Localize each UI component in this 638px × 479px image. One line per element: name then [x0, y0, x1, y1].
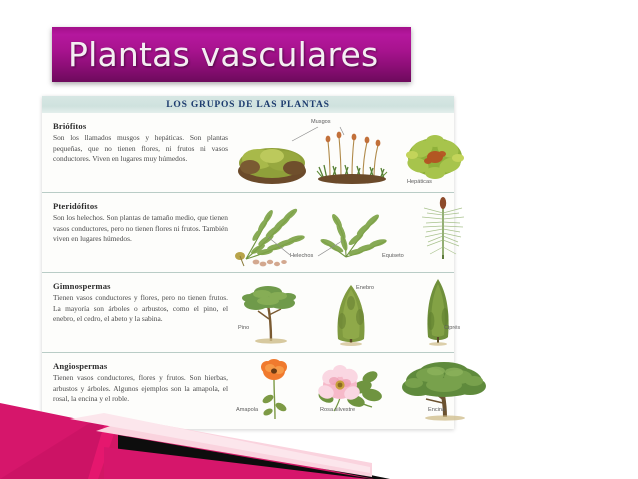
- table-row: Gimnospermas Tienen vasos conductores y …: [42, 273, 454, 353]
- illustration-label: Equiseto: [382, 253, 404, 259]
- illustration-label: Hepáticas: [407, 179, 432, 185]
- pine-tree-icon: [238, 279, 304, 345]
- illustration-label: Enebro: [356, 285, 374, 291]
- table-header-band: LOS GRUPOS DE LAS PLANTAS: [42, 96, 454, 113]
- slide-canvas: Plantas vasculares LOS GRUPOS DE LAS PLA…: [0, 0, 638, 479]
- cypress-tree-icon: [418, 275, 458, 347]
- plant-groups-table: LOS GRUPOS DE LAS PLANTAS Briófitos Son …: [42, 96, 454, 429]
- ribbon-shapes: [0, 389, 638, 479]
- group-description: Son los helechos. Son plantas de tamaño …: [53, 213, 228, 245]
- decorative-ribbons: [0, 389, 638, 479]
- group-name: Pteridófitos: [53, 201, 228, 211]
- moss-cushion-icon: [236, 137, 308, 185]
- row-text-block: Pteridófitos Son los helechos. Son plant…: [53, 201, 228, 245]
- illustration-label: Musgos: [311, 119, 331, 125]
- table-row: Briófitos Son los llamados musgos y hepá…: [42, 113, 454, 193]
- illustration-label: Ciprés: [444, 325, 460, 331]
- group-description: Son los llamados musgos y hepáticas. Son…: [53, 133, 228, 165]
- moss-sporophyte-icon: [314, 127, 394, 185]
- row-text-block: Briófitos Son los llamados musgos y hepá…: [53, 121, 228, 165]
- table-row: Pteridófitos Son los helechos. Son plant…: [42, 193, 454, 273]
- liverwort-icon: [404, 133, 466, 181]
- group-name: Gimnospermas: [53, 281, 228, 291]
- group-description: Tienen vasos conductores y flores, pero …: [53, 293, 228, 325]
- slide-title-banner: Plantas vasculares: [52, 27, 411, 82]
- group-name: Angiospermas: [53, 361, 228, 371]
- row-text-block: Gimnospermas Tienen vasos conductores y …: [53, 281, 228, 325]
- row-illustrations: Musgos Hepáticas: [232, 113, 450, 192]
- page-title: Plantas vasculares: [52, 38, 378, 71]
- horsetail-icon: [418, 195, 468, 261]
- row-illustrations: Pino Enebro Ciprés: [232, 273, 450, 352]
- group-name: Briófitos: [53, 121, 228, 131]
- row-illustrations: Helechos Equiseto: [232, 193, 450, 272]
- illustration-label: Helechos: [290, 253, 313, 259]
- table-header-title: LOS GRUPOS DE LAS PLANTAS: [166, 100, 329, 110]
- illustration-label: Pino: [238, 325, 249, 331]
